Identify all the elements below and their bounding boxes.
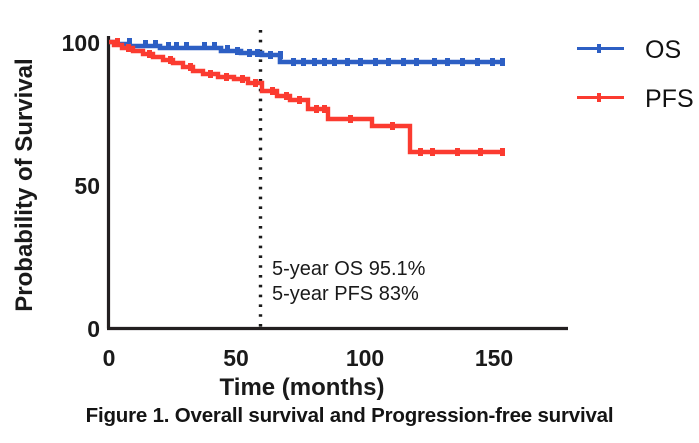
figure-caption: Figure 1. Overall survival and Progressi… — [0, 404, 699, 428]
legend-os-censor-mark — [597, 44, 601, 53]
legend-item-os[interactable]: OS — [577, 36, 681, 64]
pfs-censor-marks — [115, 38, 505, 156]
y-tick-label-50: 50 — [74, 173, 100, 199]
y-axis-tick-labels: 100 50 0 — [62, 30, 100, 342]
chart-legend: OS PFS — [577, 36, 694, 113]
x-axis-tick-labels: 0 50 100 150 — [103, 345, 514, 371]
x-tick-label-0: 0 — [103, 345, 116, 371]
annotation-os-5yr: 5-year OS 95.1% — [272, 258, 426, 280]
x-tick-label-50: 50 — [223, 345, 249, 371]
legend-pfs-censor-mark — [597, 93, 601, 102]
x-tick-label-150: 150 — [475, 345, 513, 371]
survival-annotations: 5-year OS 95.1% 5-year PFS 83% — [272, 258, 426, 305]
legend-label-pfs: PFS — [645, 85, 694, 113]
figure-container: 100 50 0 0 50 100 150 Time (months) Prob… — [0, 0, 699, 443]
legend-label-os: OS — [645, 36, 681, 64]
legend-item-pfs[interactable]: PFS — [577, 85, 694, 113]
pfs-curve — [109, 38, 505, 156]
y-tick-label-0: 0 — [87, 316, 100, 342]
y-axis-title: Probability of Survival — [11, 58, 38, 311]
x-tick-label-100: 100 — [346, 345, 384, 371]
x-axis-title: Time (months) — [220, 374, 385, 401]
y-tick-label-100: 100 — [62, 30, 100, 56]
survival-plot: 100 50 0 0 50 100 150 Time (months) Prob… — [0, 0, 699, 443]
annotation-pfs-5yr: 5-year PFS 83% — [272, 283, 419, 305]
